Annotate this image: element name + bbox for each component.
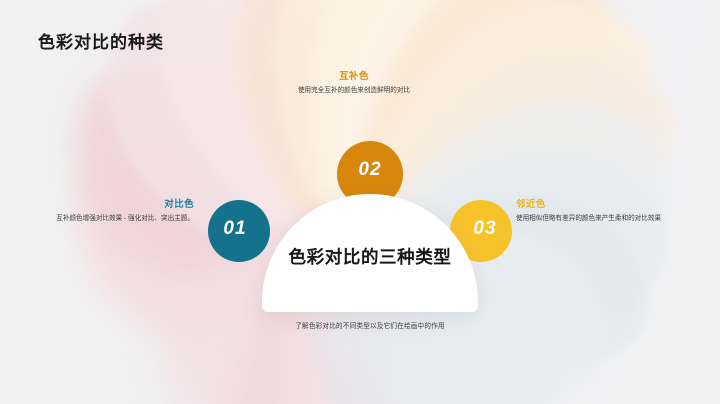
info-block-contrast-description: 互补颜色增强对比效果 - 强化对比、突出主题。: [28, 214, 194, 225]
info-block-analogous-heading: 邻近色: [516, 196, 688, 210]
step-badge-02-number: 02: [358, 159, 381, 181]
info-block-complementary: 互补色 使用完全互补的颜色来创造鲜明的对比: [268, 68, 440, 97]
page-title: 色彩对比的种类: [38, 28, 164, 53]
step-badge-03-number: 03: [473, 218, 496, 240]
center-heading: 色彩对比的三种类型: [262, 244, 478, 269]
info-block-contrast: 对比色 互补颜色增强对比效果 - 强化对比、突出主题。: [28, 196, 194, 225]
info-block-complementary-description: 使用完全互补的颜色来创造鲜明的对比: [268, 86, 440, 97]
info-block-analogous: 邻近色 使用相似但略有差异的颜色来产生柔和的对比效果: [516, 196, 688, 225]
bottom-caption: 了解色彩对比的不同类型以及它们在绘画中的作用: [200, 320, 540, 330]
info-block-complementary-heading: 互补色: [268, 68, 440, 82]
info-block-contrast-heading: 对比色: [28, 196, 194, 210]
slide-canvas: 色彩对比的种类 互补色 使用完全互补的颜色来创造鲜明的对比 对比色 互补颜色增强…: [0, 0, 720, 404]
center-dome-panel: 色彩对比的三种类型: [262, 194, 478, 312]
info-block-analogous-description: 使用相似但略有差异的颜色来产生柔和的对比效果: [516, 214, 688, 225]
step-badge-01: 01: [208, 200, 270, 262]
step-badge-01-number: 01: [223, 218, 246, 240]
